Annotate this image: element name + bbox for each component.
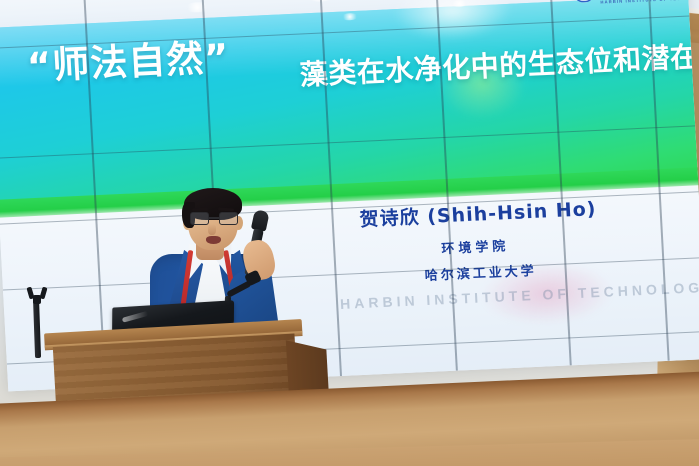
eyeglass-lens-left <box>190 212 209 225</box>
speaker-nose <box>208 224 216 235</box>
microphone-stand-clip-icon <box>28 287 46 303</box>
speaker-mouth <box>206 236 221 244</box>
eyeglasses-icon <box>190 212 238 225</box>
screenshot-root: ater Resources 哈尔滨工业大 HARBIN INSTITUTE O… <box>0 0 699 466</box>
eyeglass-bridge <box>209 217 219 219</box>
eyeglass-lens-right <box>219 212 238 225</box>
laptop-reflection <box>122 311 148 323</box>
